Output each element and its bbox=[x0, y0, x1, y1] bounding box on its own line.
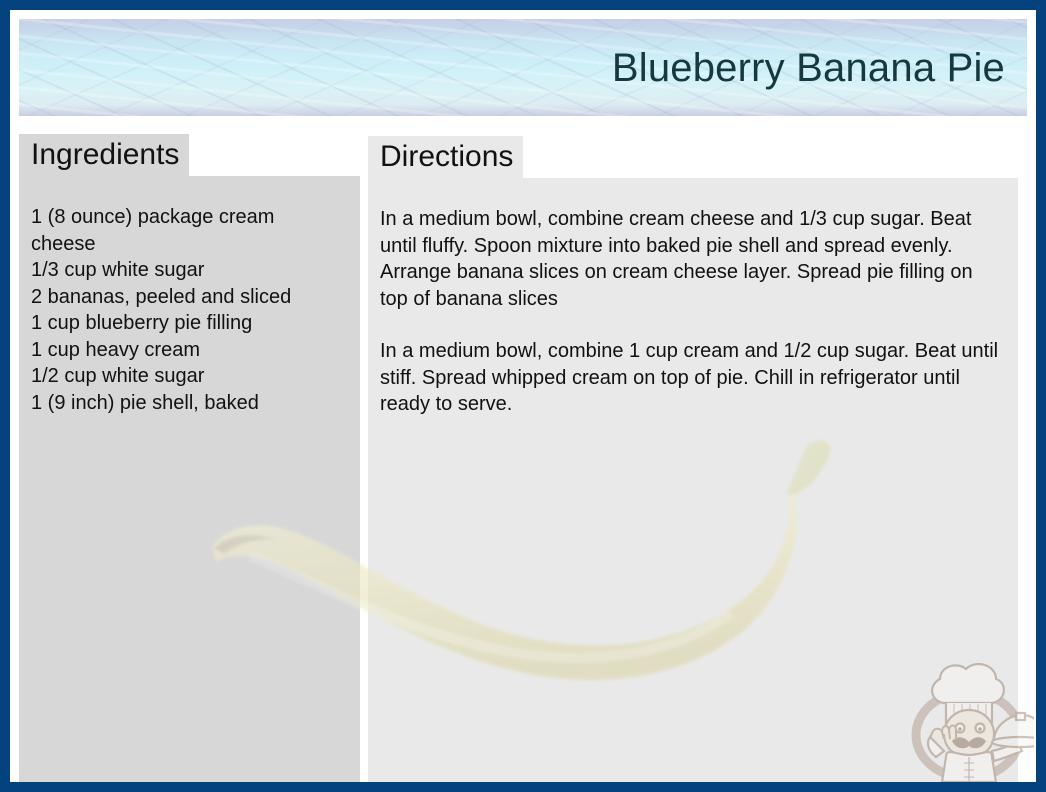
ingredient-item: 1 (8 ounce) package cream cheese bbox=[31, 204, 344, 257]
title-banner: Blueberry Banana Pie bbox=[19, 19, 1027, 116]
page-title: Blueberry Banana Pie bbox=[612, 48, 1005, 88]
ingredient-item: 1 cup heavy cream bbox=[31, 337, 344, 364]
ingredients-panel: Ingredients 1 (8 ounce) package cream ch… bbox=[19, 134, 360, 782]
direction-paragraph: In a medium bowl, combine 1 cup cream an… bbox=[380, 338, 1002, 418]
ingredient-item: 1/2 cup white sugar bbox=[31, 363, 344, 390]
ingredient-item: 1 (9 inch) pie shell, baked bbox=[31, 390, 344, 417]
ingredient-item: 2 bananas, peeled and sliced bbox=[31, 284, 344, 311]
recipe-card: Blueberry Banana Pie Ingredients 1 (8 ou… bbox=[0, 0, 1046, 792]
ingredients-body: 1 (8 ounce) package cream cheese1/3 cup … bbox=[19, 176, 360, 782]
directions-heading: Directions bbox=[368, 136, 523, 178]
ingredients-list: 1 (8 ounce) package cream cheese1/3 cup … bbox=[31, 204, 344, 416]
chef-logo-icon bbox=[906, 651, 1034, 782]
ingredients-heading: Ingredients bbox=[19, 134, 189, 176]
ingredient-item: 1/3 cup white sugar bbox=[31, 257, 344, 284]
recipe-page: Blueberry Banana Pie Ingredients 1 (8 ou… bbox=[10, 10, 1036, 782]
direction-paragraph: In a medium bowl, combine cream cheese a… bbox=[380, 206, 1002, 312]
ingredient-item: 1 cup blueberry pie filling bbox=[31, 310, 344, 337]
